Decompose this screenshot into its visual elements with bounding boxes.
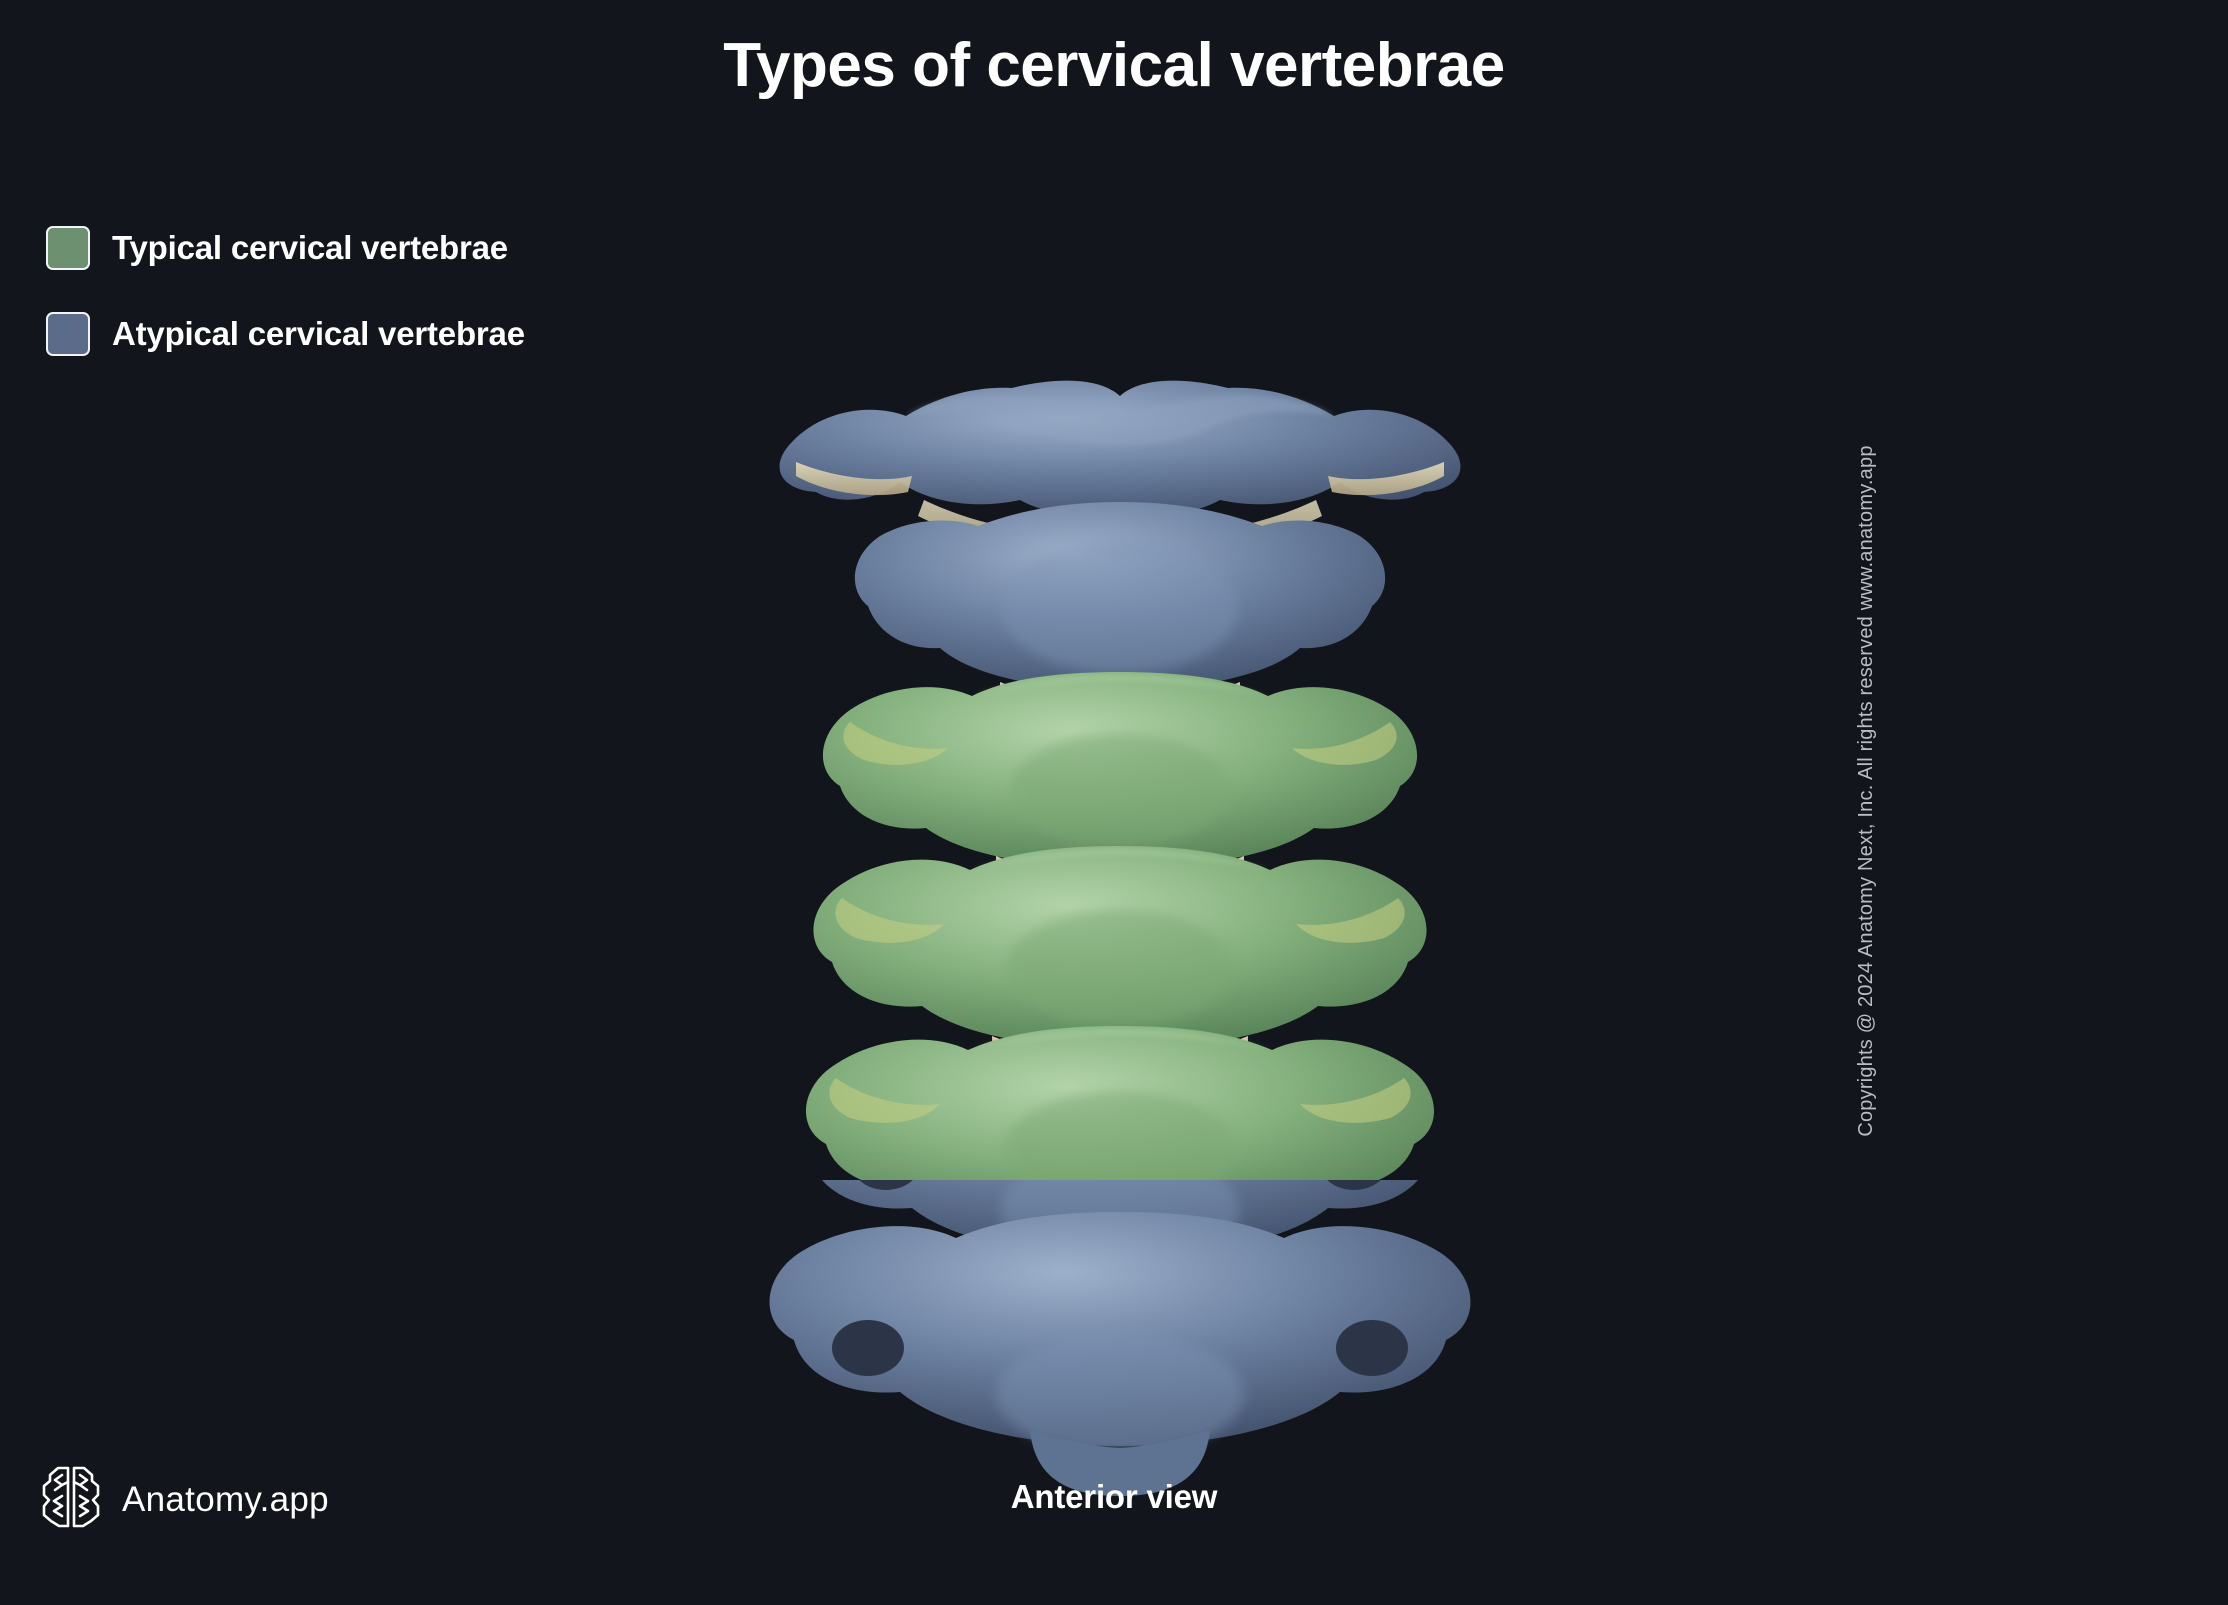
color-swatch-icon [46, 226, 90, 270]
brand-logo: Anatomy.app [40, 1462, 329, 1537]
legend-item-atypical: Atypical cervical vertebrae [46, 312, 525, 356]
page-title: Types of cervical vertebrae [0, 32, 2228, 100]
vertebra-c3 [823, 672, 1417, 868]
illustration-canvas: Types of cervical vertebrae Typical cerv… [0, 0, 2228, 1581]
view-caption: Anterior view [0, 1478, 2228, 1516]
lower-cervical-group [700, 1180, 1540, 1600]
legend: Typical cervical vertebrae Atypical cerv… [46, 226, 525, 356]
brand-name: Anatomy.app [122, 1480, 329, 1520]
vertebra-atlas-c1 [780, 381, 1461, 516]
cervical-spine-image [700, 350, 1540, 1290]
brain-logo-icon [40, 1462, 102, 1537]
legend-item-typical: Typical cervical vertebrae [46, 226, 525, 270]
legend-item-label: Typical cervical vertebrae [112, 229, 508, 267]
vertebra-c7 [770, 1212, 1471, 1496]
transverse-foramen [1336, 1320, 1408, 1376]
vertebra-c4 [813, 846, 1426, 1048]
color-swatch-icon [46, 312, 90, 356]
vertebra-axis-c2 [855, 502, 1385, 690]
legend-item-label: Atypical cervical vertebrae [112, 315, 525, 353]
copyright-notice: Copyrights @ 2024 Anatomy Next, Inc. All… [1855, 445, 1878, 1136]
transverse-foramen [832, 1320, 904, 1376]
